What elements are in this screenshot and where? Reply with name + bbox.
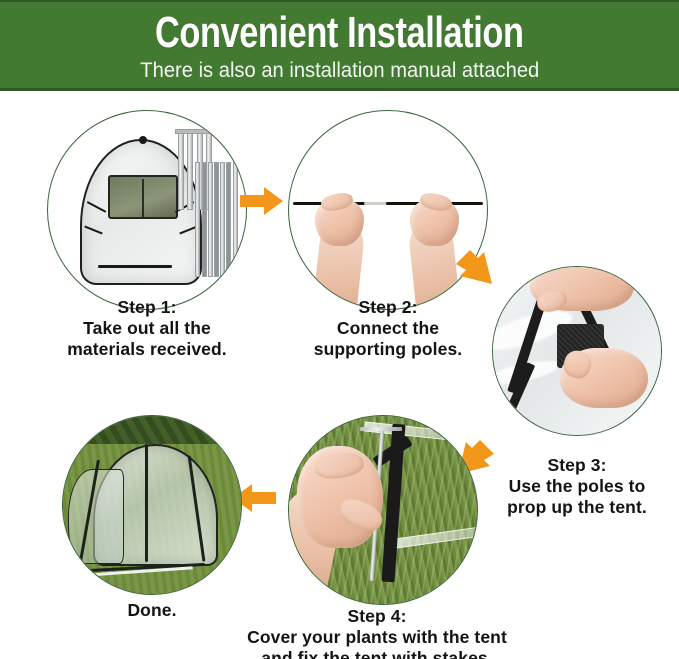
page-subtitle: There is also an installation manual att… [140,59,539,82]
step-done-image [62,415,242,595]
tent-seam-left [87,201,107,213]
stake-handle [360,427,401,431]
tent-base-bar [98,265,172,268]
step-1-photo [48,111,246,309]
tent-seam-left-lower [84,226,102,235]
step-done-photo [63,416,241,594]
step-3-caption: Step 3: Use the poles to prop up the ten… [477,455,677,518]
tent-window-graphic [108,175,179,219]
step-4-photo [289,416,477,604]
done-hedge-background [63,416,241,444]
header-banner: Convenient Installation There is also an… [0,0,679,91]
tent-rib-center [145,444,148,561]
page-title: Convenient Installation [155,11,524,55]
step-3-image [492,266,662,436]
installation-infographic: Convenient Installation There is also an… [0,0,679,659]
arrow-step1-to-step2 [240,186,284,216]
step-4-image [288,415,478,605]
step-4-caption: Step 4: Cover your plants with the tent … [212,606,542,659]
assembled-tent-side-panel [68,469,123,564]
step-3-photo [493,267,661,435]
support-pole-bundle-graphic [195,162,243,275]
step-done-caption: Done. [62,600,242,621]
step-1-image [47,110,247,310]
step-2-caption: Step 2: Connect the supporting poles. [273,297,503,360]
arrow-step2-to-step3 [452,250,498,296]
tent-apex [139,136,147,144]
step-1-caption: Step 1: Take out all the materials recei… [32,297,262,360]
